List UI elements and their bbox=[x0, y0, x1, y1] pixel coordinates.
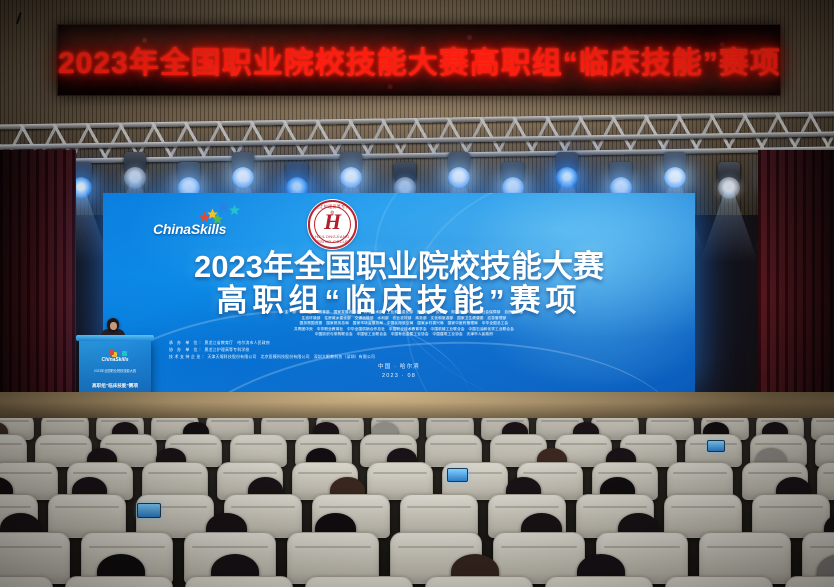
stage-light bbox=[444, 152, 474, 198]
chinaskills-wordmark: ChinaSkills bbox=[153, 221, 226, 237]
screen-logo-row: ChinaSkills 黑龙江护理高等专科学校 H HEILONGJIANG N… bbox=[153, 201, 383, 245]
stage-light bbox=[228, 152, 258, 198]
audience-chair bbox=[425, 576, 533, 587]
stage-light-lens bbox=[340, 167, 362, 189]
stage-light bbox=[714, 162, 744, 208]
stage-light-lens bbox=[232, 167, 254, 189]
stage-light bbox=[552, 152, 582, 198]
audience-seating bbox=[0, 418, 834, 587]
stage-light bbox=[660, 152, 690, 198]
podium-text-line2: 高职组“临床技能”赛项 bbox=[83, 383, 147, 389]
screen-cohosts-block: 承 办 单 位：黑龙江省教育厅 哈尔滨市人民政府协 办 单 位：黑龙江护理高等专… bbox=[169, 339, 609, 360]
speaker-face bbox=[110, 322, 117, 330]
screen-place: 中国 · 哈尔滨 bbox=[103, 363, 695, 372]
screen-place-date: 中国 · 哈尔滨 2023 · 08 bbox=[103, 363, 695, 381]
main-led-screen: ChinaSkills 黑龙江护理高等专科学校 H HEILONGJIANG N… bbox=[103, 193, 695, 392]
organizer-line: 中国纺织与采购联合会 中国轻工业联合会 中国有色金属工业协会 中国建筑工业协会 … bbox=[169, 332, 639, 338]
podium-star-teal bbox=[122, 351, 127, 356]
emblem-letter: H bbox=[310, 211, 355, 233]
screen-date: 2023 · 08 bbox=[103, 372, 695, 381]
star-icon-teal bbox=[228, 204, 241, 217]
screen-organizers-block: 主 办 单 位：教育部 国家发展改革委 科学技术部 工业和信息化部 国家民委 民… bbox=[169, 310, 639, 338]
audience-phone-screen bbox=[707, 440, 726, 452]
audience-phone-screen bbox=[137, 503, 162, 519]
cohost-line: 承 办 单 位：黑龙江省教育厅 哈尔滨市人民政府 bbox=[169, 339, 609, 346]
audience-chair bbox=[305, 576, 413, 587]
stage-light-lens bbox=[664, 167, 686, 189]
chinaskills-word-china: China bbox=[153, 221, 191, 237]
stage-light bbox=[336, 152, 366, 198]
podium-text-line1: 2023年全国职业院校技能大赛 bbox=[83, 369, 147, 374]
audience-chair bbox=[545, 576, 653, 587]
chinaskills-logo: ChinaSkills bbox=[153, 201, 303, 245]
podium-star-red bbox=[109, 350, 114, 355]
audience-chair bbox=[65, 576, 173, 587]
audience-chair bbox=[785, 576, 834, 587]
stage-light-lens bbox=[124, 167, 146, 189]
audience-chair bbox=[0, 576, 53, 587]
podium-logo: ChinaSkills bbox=[91, 349, 139, 365]
stage-light-lens bbox=[556, 167, 578, 189]
stage-light-lens bbox=[718, 177, 740, 199]
led-banner-text: 2023年全国职业院校技能大赛高职组“临床技能”赛项 bbox=[58, 38, 780, 82]
audience-chair bbox=[665, 576, 773, 587]
stage-light bbox=[120, 152, 150, 198]
led-banner-panel: 2023年全国职业院校技能大赛高职组“临床技能”赛项 bbox=[57, 24, 781, 96]
audience-chair bbox=[185, 576, 293, 587]
podium-star-cluster bbox=[109, 349, 129, 357]
cohost-line: 协 办 单 位：黑龙江护理高等专科学校 bbox=[169, 346, 609, 353]
stage-light-lens bbox=[448, 167, 470, 189]
stage-light-beam bbox=[700, 192, 758, 262]
podium-top-surface bbox=[76, 335, 154, 341]
cohost-line: 技术支持企业：天津天堰科技股份有限公司 北京医模科技股份有限公司 深圳大眼教科技… bbox=[169, 353, 609, 360]
podium-wordmark: ChinaSkills bbox=[91, 357, 139, 363]
audience-phone-screen bbox=[447, 468, 468, 482]
conference-hall-photo: 2023年全国职业院校技能大赛高职组“临床技能”赛项 bbox=[0, 0, 834, 587]
chinaskills-word-skills: Skills bbox=[191, 221, 226, 237]
